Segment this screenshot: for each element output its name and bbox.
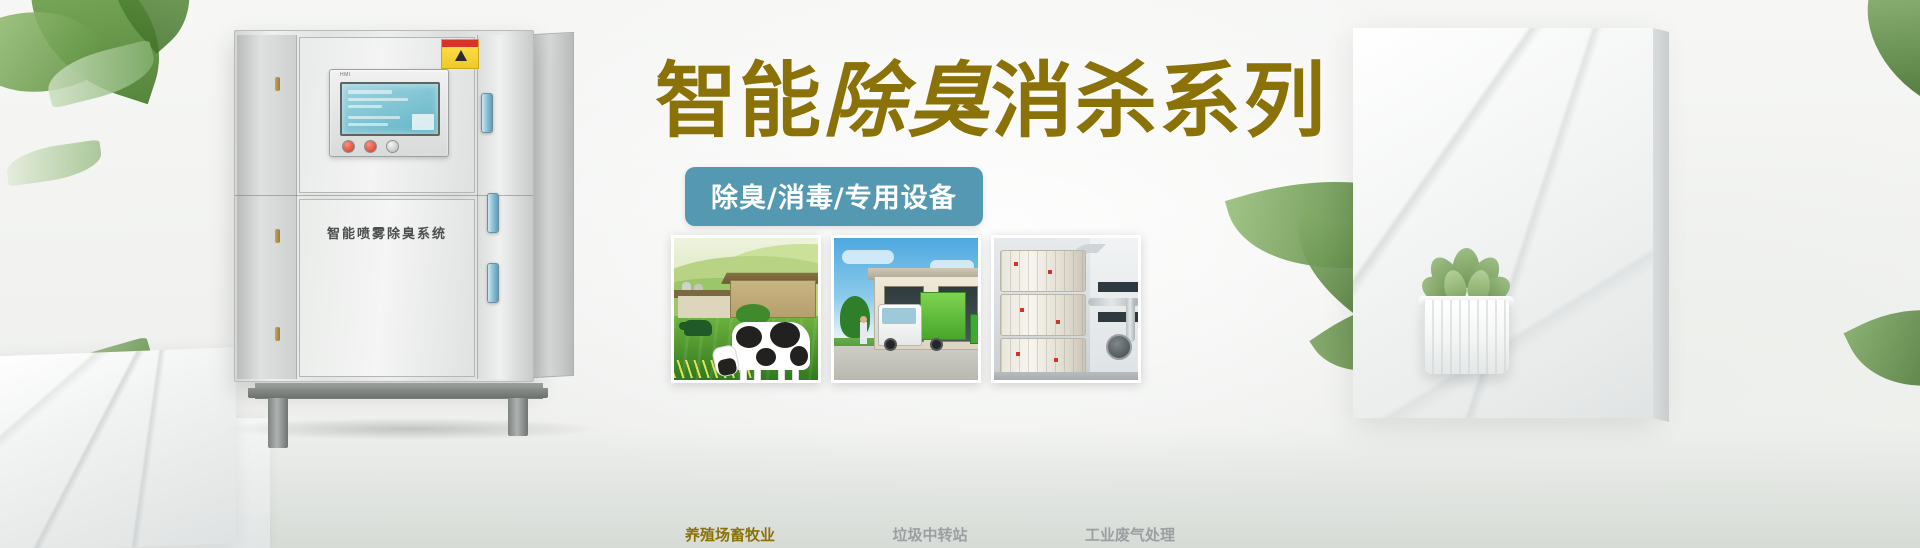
stop-button[interactable]	[342, 140, 355, 153]
cabinet-label: 智能喷雾除臭系统	[299, 223, 475, 242]
tower-marker-e	[1016, 352, 1020, 356]
tower-marker-d	[1056, 320, 1060, 324]
hmi-control-panel[interactable]: HMI	[329, 69, 449, 157]
cabinet-body: HMI	[234, 30, 534, 382]
plant-pot	[1423, 300, 1509, 374]
scrubber-tower-mid	[1000, 294, 1086, 336]
lower-door-handle-top[interactable]	[487, 193, 499, 233]
truck-wheel-front	[884, 338, 897, 351]
farm-cow-foreground	[732, 322, 810, 370]
marble-slab-left	[0, 347, 236, 548]
headline-char-5: 消	[991, 54, 1075, 149]
feather-leaf-mid-left	[4, 139, 104, 186]
hinge-mid	[275, 229, 280, 243]
warning-sticker	[441, 39, 479, 69]
machine-leg-right	[508, 396, 528, 436]
headline-char-8: 列	[1243, 54, 1327, 149]
thumbnail-strip	[671, 235, 1141, 383]
farm-dairy-thumbnail[interactable]	[671, 235, 821, 383]
headline-char-1: 智	[655, 54, 739, 149]
headline-char-6: 杀	[1075, 54, 1159, 149]
headline-char-3: 除	[823, 53, 907, 149]
lower-door-handle-bottom[interactable]	[487, 263, 499, 303]
upper-door-handle[interactable]	[481, 93, 493, 133]
duct-vertical	[1126, 298, 1135, 342]
machine-base-rail	[248, 388, 548, 398]
thumbnail-captions: 养殖场畜牧业 垃圾中转站 工业废气处理	[655, 524, 1335, 545]
machine-leg-left	[268, 396, 288, 448]
cabinet-right-panel	[477, 35, 533, 379]
leaf-far-right-bottom	[1844, 276, 1920, 419]
headline-char-7: 系	[1159, 54, 1243, 149]
hinge-lower	[275, 327, 280, 341]
plant-ground-rail	[994, 372, 1138, 383]
subtitle-badge: 除臭/消毒/专用设备	[685, 167, 983, 226]
station-ground	[834, 346, 978, 380]
cabinet-side-panel	[534, 32, 574, 378]
hmi-screen[interactable]	[340, 82, 440, 136]
start-button[interactable]	[364, 140, 377, 153]
tower-marker-b	[1048, 270, 1052, 274]
feather-leaf-upper-left	[42, 39, 159, 108]
truck-container	[920, 292, 966, 340]
plant-window-upper	[1098, 282, 1140, 292]
deodorizing-machine: HMI	[234, 30, 574, 390]
leaf-far-right-top	[1835, 0, 1920, 106]
caption-farm: 养殖场畜牧业	[655, 524, 805, 545]
hmi-label: HMI	[340, 72, 351, 78]
headline-char-2: 能	[739, 54, 823, 149]
cabinet-left-panel	[237, 35, 297, 379]
warning-triangle-icon	[455, 50, 467, 61]
warning-sticker-bar	[442, 40, 478, 47]
tower-marker-f	[1054, 358, 1058, 362]
industrial-scrubber-thumbnail[interactable]	[991, 235, 1141, 383]
page-title: 智能除臭消杀系列	[655, 60, 1335, 143]
reset-button[interactable]	[386, 140, 399, 153]
exhaust-fan	[1106, 334, 1132, 360]
caption-station: 垃圾中转站	[855, 524, 1005, 545]
scrubber-tower-top	[1000, 250, 1086, 292]
marble-slab-right-edge	[1653, 28, 1669, 422]
hmi-button-row[interactable]	[342, 140, 399, 153]
cloud-a	[842, 250, 894, 264]
farm-bush	[736, 304, 770, 324]
headline-char-4: 臭	[907, 53, 991, 149]
transfer-station-thumbnail[interactable]	[831, 235, 981, 383]
tower-marker-a	[1014, 262, 1018, 266]
farm-shed	[678, 296, 730, 318]
worker-figure	[860, 322, 867, 344]
banner-stage: HMI	[0, 0, 1920, 548]
hinge-upper	[275, 77, 280, 91]
tower-marker-c	[1020, 308, 1024, 312]
green-waste-bin	[970, 314, 981, 344]
caption-scrubber: 工业废气处理	[1055, 524, 1205, 545]
farm-cow-distant	[684, 320, 712, 336]
truck-wheel-rear	[930, 338, 943, 351]
banner-content: 智能除臭消杀系列 除臭/消毒/专用设备	[655, 60, 1335, 226]
truck-windshield	[882, 308, 916, 324]
